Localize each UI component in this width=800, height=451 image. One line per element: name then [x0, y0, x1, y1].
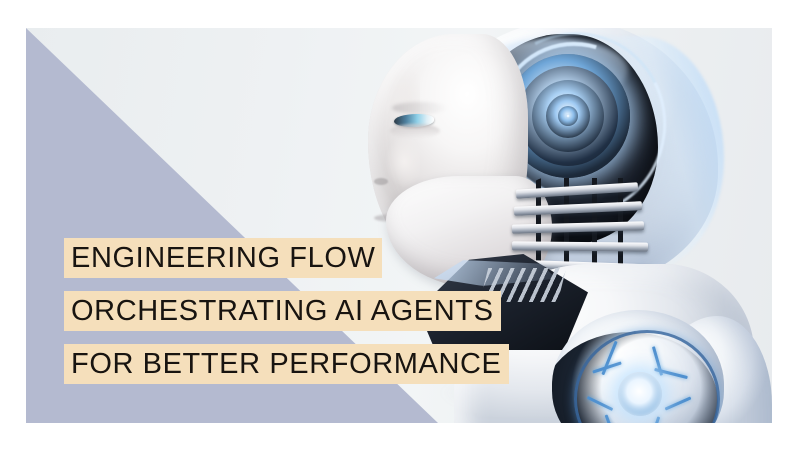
- ear-glow-core: [566, 114, 570, 118]
- robot-brow: [392, 102, 448, 114]
- headline-line-2: ORCHESTRATING AI AGENTS: [64, 291, 501, 331]
- headline-block: ENGINEERING FLOW ORCHESTRATING AI AGENTS…: [64, 238, 509, 384]
- neck-slat: [512, 241, 648, 251]
- headline-line-1: ENGINEERING FLOW: [64, 238, 382, 278]
- headline-line-3: FOR BETTER PERFORMANCE: [64, 344, 509, 384]
- banner-canvas: ENGINEERING FLOW ORCHESTRATING AI AGENTS…: [0, 0, 800, 451]
- robot-eyelid: [390, 124, 440, 138]
- robot-nostril: [374, 178, 388, 185]
- banner-content-plate: ENGINEERING FLOW ORCHESTRATING AI AGENTS…: [26, 28, 772, 423]
- shoulder-glow-core: [618, 372, 662, 416]
